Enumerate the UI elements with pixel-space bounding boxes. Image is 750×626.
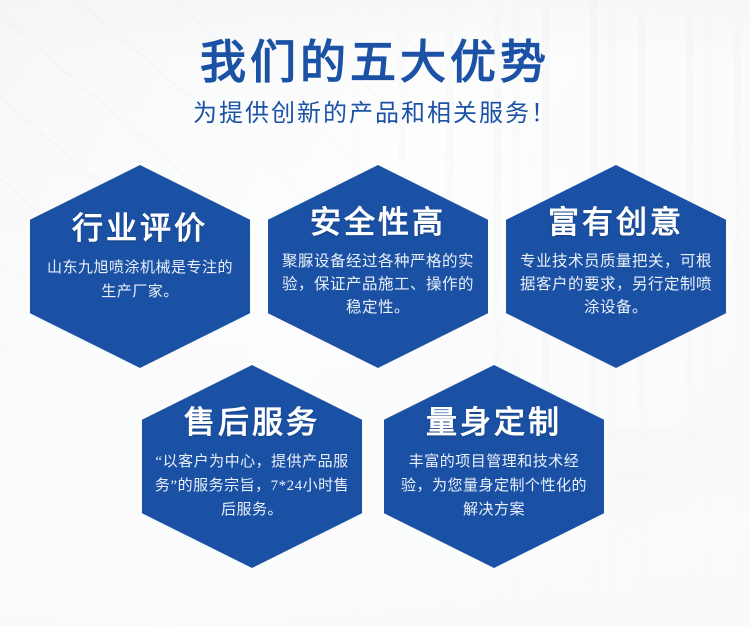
advantage-body: “以客户为中心，提供产品服务”的服务宗旨，7*24小时售后服务。 [154,450,350,522]
heading-block: 我们的五大优势 为提供创新的产品和相关服务！ [0,34,750,130]
advantage-body: 山东九旭喷涂机械是专注的生产厂家。 [44,256,236,304]
advantage-title: 量身定制 [396,405,592,441]
advantage-title: 售后服务 [154,405,350,441]
advantage-body: 聚脲设备经过各种严格的实验，保证产品施工、操作的稳定性。 [280,250,476,319]
advantage-body: 专业技术员质量把关，可根据客户的要求，另行定制喷涂设备。 [518,250,714,319]
advantage-title: 行业评价 [44,211,236,247]
page-title: 我们的五大优势 [0,34,750,92]
advantage-body: 丰富的项目管理和技术经验，为您量身定制个性化的解决方案 [396,450,592,522]
advantage-title: 富有创意 [518,205,714,241]
advantages-banner: 我们的五大优势 为提供创新的产品和相关服务！ 行业评价 山东九旭喷涂机械是专注的… [0,0,750,626]
page-subtitle: 为提供创新的产品和相关服务！ [0,98,750,130]
advantage-title: 安全性高 [280,205,476,241]
